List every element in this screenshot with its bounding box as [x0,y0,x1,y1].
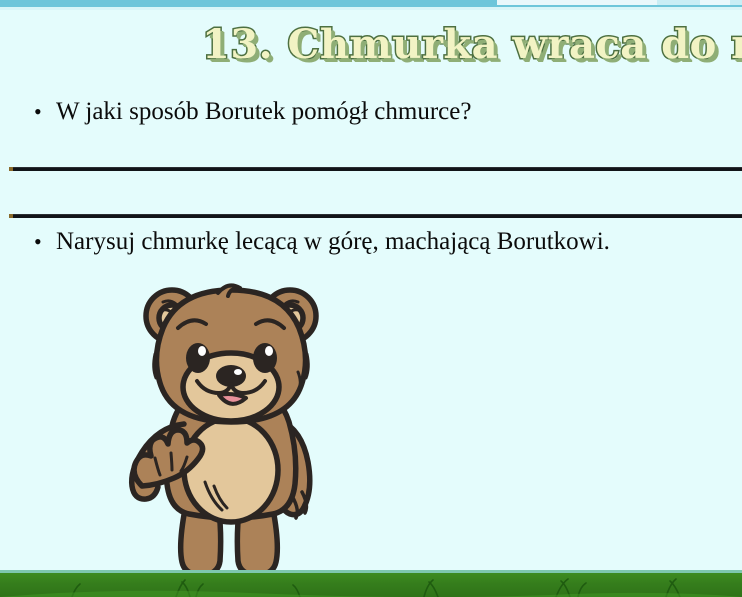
chrome-underline [0,7,742,10]
bullet-point-icon: • [34,101,56,123]
answer-line-2[interactable] [9,214,742,218]
horizontal-scrollbar-thumb[interactable] [497,0,657,5]
exercise-text-2: Narysuj chmurkę lecącą w górę, machającą… [56,228,610,256]
bullet-point-icon: • [34,231,56,253]
grass-field [0,573,742,597]
exercise-text-1: W jaki sposób Borutek pomógł chmurce? [56,98,471,126]
answer-line-1[interactable] [9,167,742,171]
scrollbar-end-gap [700,0,730,5]
page-title-container: 13. Chmurka wraca do nieb [0,18,742,80]
waving-bear-illustration [122,272,340,577]
grass-strip [0,570,742,597]
page-title: 13. Chmurka wraca do nieb [202,18,742,72]
exercise-item-1: • W jaki sposób Borutek pomógł chmurce? [34,98,471,126]
exercise-item-2: • Narysuj chmurkę lecącą w górę, machają… [34,228,610,256]
worksheet-page: 13. Chmurka wraca do nieb • W jaki sposó… [0,0,742,597]
